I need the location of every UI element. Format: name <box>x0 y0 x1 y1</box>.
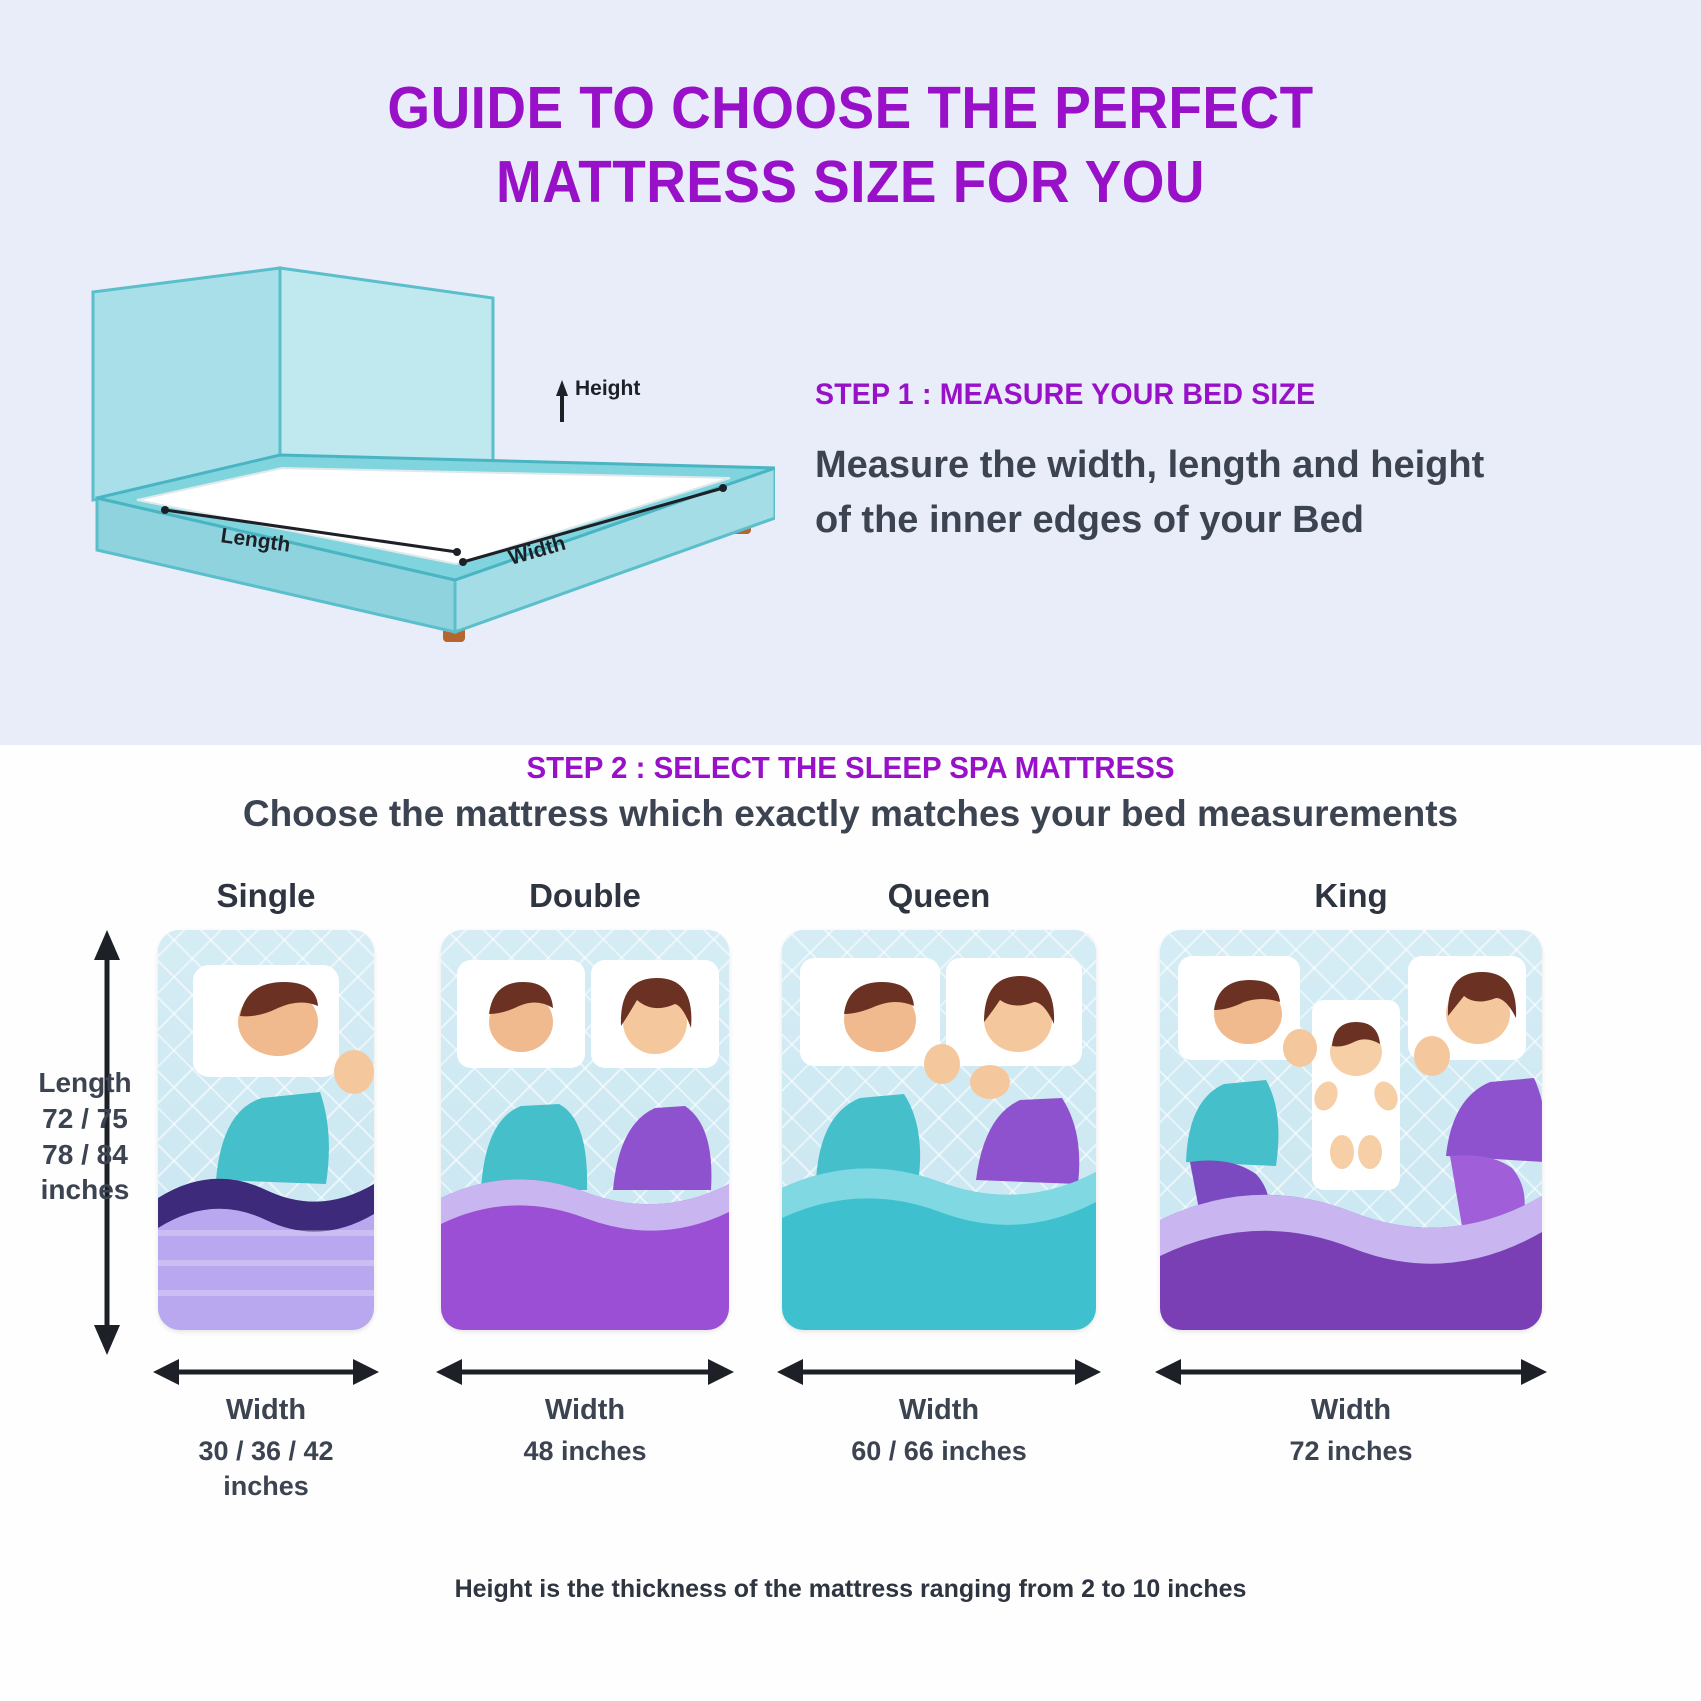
mattress-card-double[interactable]: Double <box>441 930 729 1330</box>
length-measurement-label: Length 72 / 75 78 / 84 inches <box>20 1065 150 1208</box>
mattress-card-single[interactable]: Single <box>158 930 374 1330</box>
width-unit: inches <box>133 1469 399 1504</box>
length-unit: inches <box>20 1172 150 1208</box>
mattress-figure-single <box>158 930 374 1330</box>
step2-subheading: Choose the mattress which exactly matche… <box>0 793 1701 835</box>
mattress-name-queen: Queen <box>782 877 1096 915</box>
width-title: Width <box>772 1392 1106 1430</box>
mattress-card-queen[interactable]: Queen <box>782 930 1096 1330</box>
step1-body: Measure the width, length and height of … <box>815 438 1515 548</box>
width-value: 48 inches <box>431 1434 739 1469</box>
mattress-name-single: Single <box>158 877 374 915</box>
width-value: 60 / 66 inches <box>772 1434 1106 1469</box>
bed-diagram: Height Length Width <box>75 250 775 650</box>
width-arrow-queen <box>777 1355 1101 1394</box>
step1-heading: STEP 1 : MEASURE YOUR BED SIZE <box>815 378 1480 412</box>
mattress-name-king: King <box>1160 877 1542 915</box>
width-arrow-double <box>436 1355 734 1394</box>
mattress-name-double: Double <box>441 877 729 915</box>
mattress-figure-double <box>441 930 729 1330</box>
length-value-2: 78 / 84 <box>20 1137 150 1173</box>
length-title: Length <box>20 1065 150 1101</box>
bed-height-label: Height <box>575 377 640 400</box>
width-title: Width <box>1150 1392 1552 1430</box>
width-caption-double: Width 48 inches <box>431 1392 739 1469</box>
step1-section: GUIDE TO CHOOSE THE PERFECT MATTRESS SIZ… <box>0 0 1701 745</box>
width-value: 72 inches <box>1150 1434 1552 1469</box>
width-title: Width <box>431 1392 739 1430</box>
mattress-figure-king <box>1160 930 1542 1330</box>
page-title-line-1: GUIDE TO CHOOSE THE PERFECT <box>60 72 1642 146</box>
page-title: GUIDE TO CHOOSE THE PERFECT MATTRESS SIZ… <box>60 72 1642 220</box>
footer-note: Height is the thickness of the mattress … <box>0 1575 1701 1604</box>
step2-heading: STEP 2 : SELECT THE SLEEP SPA MATTRESS <box>43 750 1659 786</box>
width-caption-queen: Width 60 / 66 inches <box>772 1392 1106 1469</box>
step2-section: STEP 2 : SELECT THE SLEEP SPA MATTRESS C… <box>0 745 1701 1701</box>
width-title: Width <box>133 1392 399 1430</box>
step1-body-line-2: of the inner edges of your Bed <box>815 493 1515 548</box>
width-value: 30 / 36 / 42 <box>133 1434 399 1469</box>
step1-body-line-1: Measure the width, length and height <box>815 438 1515 493</box>
width-caption-king: Width 72 inches <box>1150 1392 1552 1469</box>
width-caption-single: Width 30 / 36 / 42 inches <box>133 1392 399 1504</box>
mattress-figure-queen <box>782 930 1096 1330</box>
width-arrow-single <box>153 1355 379 1394</box>
length-value-1: 72 / 75 <box>20 1101 150 1137</box>
page-title-line-2: MATTRESS SIZE FOR YOU <box>60 146 1642 220</box>
step1-text-block: STEP 1 : MEASURE YOUR BED SIZE Measure t… <box>815 378 1515 548</box>
mattress-card-king[interactable]: King <box>1160 930 1542 1330</box>
width-arrow-king <box>1155 1355 1547 1394</box>
